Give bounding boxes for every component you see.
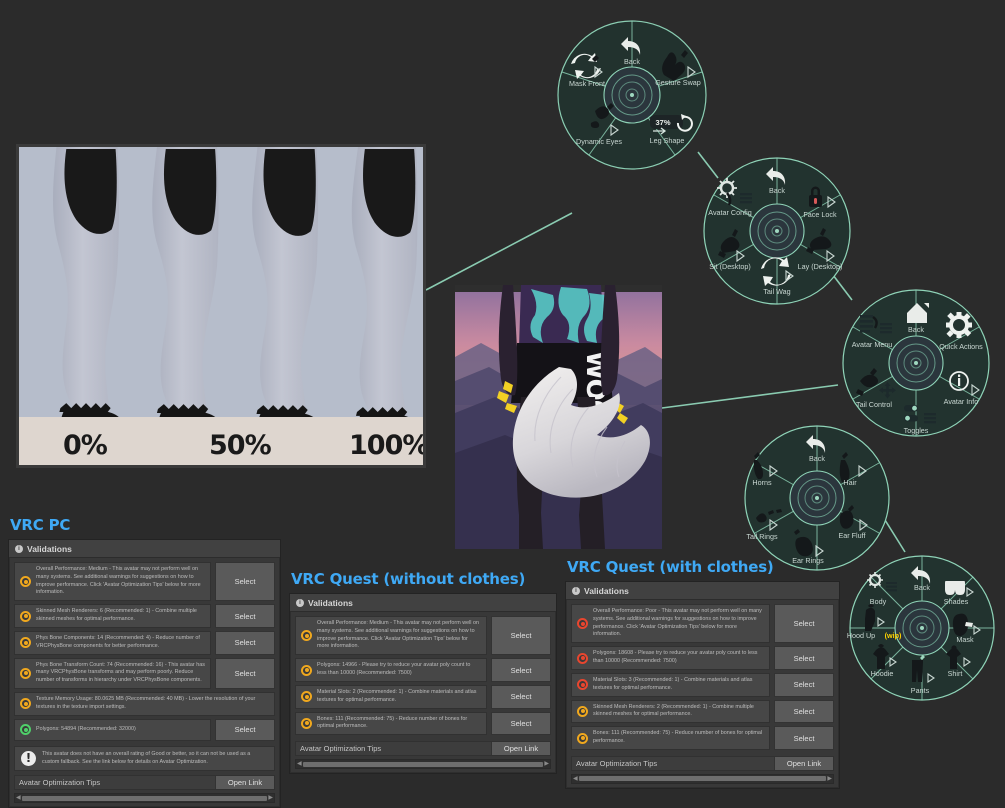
status-dot-error xyxy=(577,653,588,664)
select-button[interactable]: Select xyxy=(774,673,834,697)
scroll-left-icon[interactable]: ◀ xyxy=(297,761,302,767)
scrollbar-thumb[interactable] xyxy=(22,796,268,801)
validation-message: Polygons: 18608 - Please try to reduce y… xyxy=(571,646,770,670)
menu-label: Mask Front xyxy=(569,79,605,88)
tips-label: Avatar Optimization Tips xyxy=(19,778,100,787)
scrollbar-thumb[interactable] xyxy=(579,776,827,781)
validation-text: Material Slots: 3 (Recommended: 1) - Com… xyxy=(593,677,764,693)
validation-row: Material Slots: 2 (Recommended: 1) - Com… xyxy=(295,685,551,709)
menu-label: Gesture Swap xyxy=(655,78,701,87)
horizontal-scrollbar[interactable]: ◀ ▶ xyxy=(571,774,834,784)
menu-label: Back xyxy=(914,583,930,592)
menu-label: Hair xyxy=(843,478,857,487)
menu-label: Avatar Menu xyxy=(852,340,893,349)
validation-row: Texture Memory Usage: 80.0625 MB (Recomm… xyxy=(14,692,275,716)
validations-header-label: Validations xyxy=(584,586,629,596)
select-button[interactable]: Select xyxy=(774,604,834,643)
validation-row: Polygons: 54894 (Recommended: 32000) Sel… xyxy=(14,719,275,741)
radial-menu-expressions[interactable]: Back Gesture Swap 37% Leg Shape xyxy=(545,15,720,175)
menu-label: Back xyxy=(624,57,640,66)
validation-row: Skinned Mesh Renderers: 6 (Recommended: … xyxy=(14,604,275,628)
avatar-ingame-screenshot: WOO xyxy=(455,285,662,549)
menu-label: Back xyxy=(809,454,825,463)
validation-message: Overall Performance: Poor - This avatar … xyxy=(571,604,770,643)
info-icon: i xyxy=(15,545,23,553)
validations-box: i Validations Overall Performance: Poor … xyxy=(565,581,840,789)
menu-label: Hood Up xyxy=(847,631,875,640)
validation-row: Overall Performance: Medium - This avata… xyxy=(14,562,275,601)
status-dot-good xyxy=(20,724,31,735)
leg-caption-50: 50% xyxy=(209,430,271,461)
select-button[interactable]: Select xyxy=(215,604,275,628)
menu-label: Leg Shape xyxy=(650,136,685,145)
select-button[interactable]: Select xyxy=(774,646,834,670)
status-dot-warning xyxy=(301,691,312,702)
validation-row: Overall Performance: Medium - This avata… xyxy=(295,616,551,655)
validation-message: Phys Bone Components: 14 (Recommended: 4… xyxy=(14,631,211,655)
validation-row: Phys Bone Transform Count: 74 (Recommend… xyxy=(14,658,275,689)
leg-caption-100: 100% xyxy=(349,430,426,461)
status-dot-warning xyxy=(20,576,31,587)
select-button[interactable]: Select xyxy=(215,562,275,601)
validation-row: Overall Performance: Poor - This avatar … xyxy=(571,604,834,643)
scrollbar-thumb[interactable] xyxy=(303,762,544,767)
menu-label: Back xyxy=(769,186,785,195)
validation-text: Overall Performance: Medium - This avata… xyxy=(317,620,481,651)
status-dot-warning xyxy=(301,665,312,676)
validation-text: Polygons: 54894 (Recommended: 32000) xyxy=(36,726,136,734)
validation-text: Skinned Mesh Renderers: 6 (Recommended: … xyxy=(36,608,205,624)
validations-header-label: Validations xyxy=(27,544,72,554)
panel-title: VRC PC xyxy=(10,516,281,534)
select-button[interactable]: Select xyxy=(491,658,551,682)
validation-row: Phys Bone Components: 14 (Recommended: 4… xyxy=(14,631,275,655)
canvas-root: 0% 50% 100% xyxy=(0,0,1005,737)
panel-vrc-quest-without-clothes: VRC Quest (without clothes) i Validation… xyxy=(289,570,557,774)
optimization-tips-row: Avatar Optimization Tips Open Link xyxy=(295,741,551,756)
validations-box: i Validations Overall Performance: Mediu… xyxy=(289,593,557,774)
open-link-button[interactable]: Open Link xyxy=(491,742,550,755)
validation-list: Overall Performance: Poor - This avatar … xyxy=(566,600,839,752)
status-dot-warning xyxy=(301,630,312,641)
panel-vrc-quest-with-clothes: VRC Quest (with clothes) i Validations O… xyxy=(565,558,840,789)
select-button[interactable]: Select xyxy=(774,700,834,724)
validation-text: Phys Bone Transform Count: 74 (Recommend… xyxy=(36,662,205,685)
panel-vrc-pc: VRC PC i Validations Overall Performance… xyxy=(8,516,281,808)
radial-menu-clothing[interactable]: Back Shades Mask xyxy=(840,550,1005,715)
validation-message: Material Slots: 2 (Recommended: 1) - Com… xyxy=(295,685,487,709)
validation-message: Bones: 111 (Recommended: 75) - Reduce nu… xyxy=(571,726,770,750)
leg-caption-0: 0% xyxy=(63,430,107,461)
validation-row: Material Slots: 3 (Recommended: 1) - Com… xyxy=(571,673,834,697)
validation-list: Overall Performance: Medium - This avata… xyxy=(290,612,556,737)
menu-label: Back xyxy=(908,325,924,334)
validation-message: Skinned Mesh Renderers: 2 (Recommended: … xyxy=(571,700,770,724)
menu-label: Toggles xyxy=(904,426,929,435)
validation-message: Material Slots: 3 (Recommended: 1) - Com… xyxy=(571,673,770,697)
validation-row: Bones: 111 (Recommended: 75) - Reduce nu… xyxy=(295,712,551,736)
menu-label: Tail Rings xyxy=(746,532,778,541)
validation-text: Polygons: 14966 - Please try to reduce y… xyxy=(317,662,481,678)
info-icon: i xyxy=(296,599,304,607)
validation-text: Skinned Mesh Renderers: 2 (Recommended: … xyxy=(593,704,764,720)
validation-text: Phys Bone Components: 14 (Recommended: 4… xyxy=(36,635,205,651)
open-link-button[interactable]: Open Link xyxy=(774,757,833,770)
validation-message: Phys Bone Transform Count: 74 (Recommend… xyxy=(14,658,211,689)
validations-header: i Validations xyxy=(9,540,280,558)
select-button[interactable]: Select xyxy=(774,726,834,750)
status-dot-warning xyxy=(577,733,588,744)
tips-label: Avatar Optimization Tips xyxy=(576,759,657,768)
warning-icon: ! xyxy=(21,751,36,766)
menu-label: Shades xyxy=(944,597,969,606)
validations-header: i Validations xyxy=(566,582,839,600)
status-dot-error xyxy=(577,618,588,629)
validation-text: Material Slots: 2 (Recommended: 1) - Com… xyxy=(317,689,481,705)
menu-label: Tail Wag xyxy=(763,287,790,296)
menu-label: Body xyxy=(870,597,887,606)
validation-text: Overall Performance: Medium - This avata… xyxy=(36,566,205,597)
menu-label: Avatar Info xyxy=(944,397,979,406)
menu-ring xyxy=(745,426,889,570)
validation-message: Texture Memory Usage: 80.0625 MB (Recomm… xyxy=(14,692,275,716)
validation-row: Polygons: 14966 - Please try to reduce y… xyxy=(295,658,551,682)
validation-message: Overall Performance: Medium - This avata… xyxy=(14,562,211,601)
status-dot-error xyxy=(577,679,588,690)
menu-label-wip-suffix: (wip) xyxy=(885,631,902,640)
optimization-tips-row: Avatar Optimization Tips Open Link xyxy=(571,756,834,771)
leg-shape-badge: 37% xyxy=(655,118,670,127)
status-dot-warning xyxy=(20,698,31,709)
validation-row: Bones: 111 (Recommended: 75) - Reduce nu… xyxy=(571,726,834,750)
status-dot-warning xyxy=(577,706,588,717)
fallback-warning-row: ! This avatar does not have an overall r… xyxy=(14,746,275,772)
menu-ring xyxy=(704,158,850,304)
validation-message: Bones: 111 (Recommended: 75) - Reduce nu… xyxy=(295,712,487,736)
validation-message: Polygons: 14966 - Please try to reduce y… xyxy=(295,658,487,682)
menu-label: Horns xyxy=(752,478,772,487)
info-icon: i xyxy=(572,587,580,595)
select-button[interactable]: Select xyxy=(215,631,275,655)
validation-row: Polygons: 18608 - Please try to reduce y… xyxy=(571,646,834,670)
validation-message: Polygons: 54894 (Recommended: 32000) xyxy=(14,719,211,741)
status-dot-warning xyxy=(20,611,31,622)
status-dot-warning xyxy=(301,718,312,729)
scroll-right-icon[interactable]: ▶ xyxy=(827,776,832,782)
horizontal-scrollbar[interactable]: ◀ ▶ xyxy=(295,759,551,769)
menu-label: Face Lock xyxy=(803,210,837,219)
scroll-left-icon[interactable]: ◀ xyxy=(573,776,578,782)
validation-text: Polygons: 18608 - Please try to reduce y… xyxy=(593,650,764,666)
validation-list: Overall Performance: Medium - This avata… xyxy=(9,558,280,743)
select-button[interactable]: Select xyxy=(491,685,551,709)
tips-label: Avatar Optimization Tips xyxy=(300,744,381,753)
menu-label: Dynamic Eyes xyxy=(576,137,622,146)
gear-icon xyxy=(946,312,972,338)
select-button[interactable]: Select xyxy=(491,616,551,655)
validation-text: Overall Performance: Poor - This avatar … xyxy=(593,608,764,639)
menu-label: Avatar Config xyxy=(708,208,751,217)
validations-box: i Validations Overall Performance: Mediu… xyxy=(8,539,281,808)
menu-label: Quick Actions xyxy=(939,342,983,351)
validations-header-label: Validations xyxy=(308,598,353,608)
scroll-right-icon[interactable]: ▶ xyxy=(544,761,549,767)
validation-text: Bones: 111 (Recommended: 75) - Reduce nu… xyxy=(317,716,481,732)
validation-message: Skinned Mesh Renderers: 6 (Recommended: … xyxy=(14,604,211,628)
validations-header: i Validations xyxy=(290,594,556,612)
leg-shape-comparison-image: 0% 50% 100% xyxy=(16,144,426,468)
panel-title: VRC Quest (without clothes) xyxy=(291,570,557,588)
horizontal-scrollbar[interactable]: ◀ ▶ xyxy=(14,793,275,803)
menu-label: Pants xyxy=(911,686,930,695)
validation-text: Bones: 111 (Recommended: 75) - Reduce nu… xyxy=(593,730,764,746)
validation-row: Skinned Mesh Renderers: 2 (Recommended: … xyxy=(571,700,834,724)
scroll-left-icon[interactable]: ◀ xyxy=(16,795,21,801)
fallback-warning-text: This avatar does not have an overall rat… xyxy=(42,751,268,767)
panel-title: VRC Quest (with clothes) xyxy=(567,558,840,576)
open-link-button[interactable]: Open Link xyxy=(215,776,274,789)
scroll-right-icon[interactable]: ▶ xyxy=(268,795,273,801)
validation-message: Overall Performance: Medium - This avata… xyxy=(295,616,487,655)
menu-label: Shirt xyxy=(948,669,963,678)
menu-label: Tail Control xyxy=(856,400,892,409)
status-dot-warning xyxy=(20,668,31,679)
menu-label: Ear Fluff xyxy=(838,531,865,540)
validation-text: Texture Memory Usage: 80.0625 MB (Recomm… xyxy=(36,696,269,712)
select-button[interactable]: Select xyxy=(215,658,275,689)
avatar-render: WOO xyxy=(455,285,662,549)
status-dot-warning xyxy=(20,637,31,648)
select-button[interactable]: Select xyxy=(491,712,551,736)
select-button[interactable]: Select xyxy=(215,719,275,741)
menu-label: Hoodie xyxy=(871,669,894,678)
menu-label: Lay (Desktop) xyxy=(798,262,843,271)
menu-label: Sit (Desktop) xyxy=(709,262,751,271)
optimization-tips-row: Avatar Optimization Tips Open Link xyxy=(14,775,275,790)
menu-label: Mask xyxy=(956,635,974,644)
